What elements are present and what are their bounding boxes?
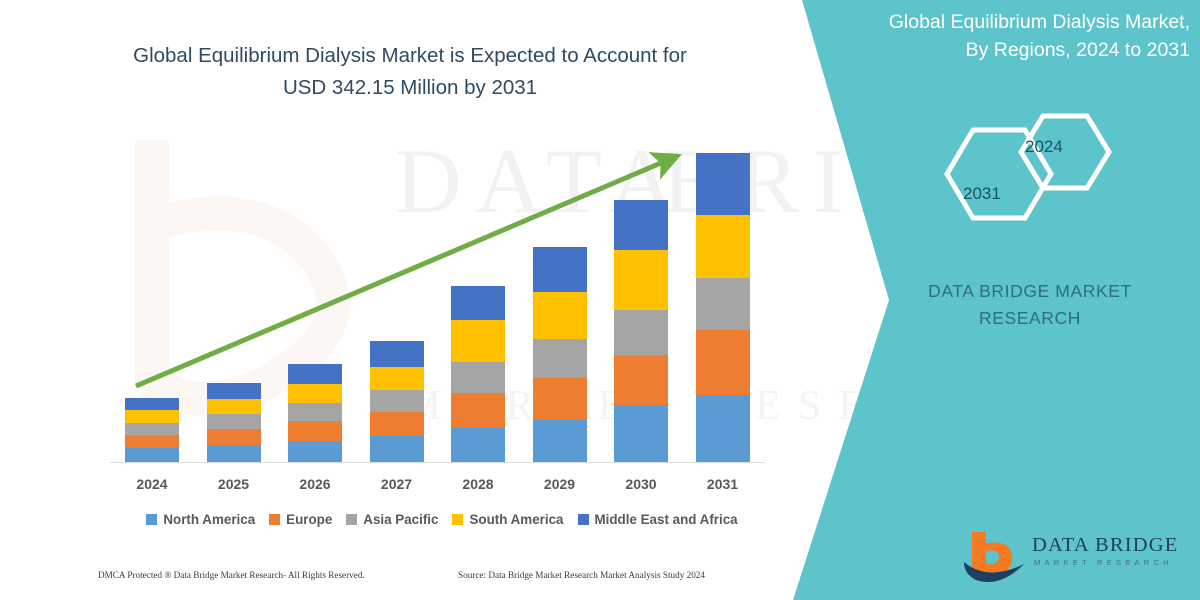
x-axis-label-2026: 2026 bbox=[280, 476, 350, 492]
infographic-canvas: DATA BRIDGE MARKET RESEARCH Global Equil… bbox=[0, 0, 1200, 600]
x-axis-label-2028: 2028 bbox=[443, 476, 513, 492]
legend-label: Middle East and Africa bbox=[595, 512, 738, 527]
bar-segment-north-america[interactable] bbox=[125, 448, 179, 462]
legend-swatch-icon bbox=[578, 514, 589, 525]
bar-segment-middle-east-and-africa[interactable] bbox=[207, 383, 261, 399]
bar-segment-asia-pacific[interactable] bbox=[125, 423, 179, 435]
x-axis-label-2027: 2027 bbox=[362, 476, 432, 492]
legend-swatch-icon bbox=[452, 514, 463, 525]
bar-segment-north-america[interactable] bbox=[207, 445, 261, 462]
bar-segment-europe[interactable] bbox=[451, 393, 505, 428]
x-axis-label-2025: 2025 bbox=[199, 476, 269, 492]
bar-2026[interactable] bbox=[288, 364, 342, 462]
bar-segment-middle-east-and-africa[interactable] bbox=[288, 364, 342, 384]
chart-legend: North AmericaEuropeAsia PacificSouth Ame… bbox=[112, 512, 772, 527]
panel-brand-line2: RESEARCH bbox=[880, 305, 1180, 332]
x-axis-label-2030: 2030 bbox=[606, 476, 676, 492]
bar-segment-north-america[interactable] bbox=[370, 436, 424, 462]
bar-2028[interactable] bbox=[451, 286, 505, 462]
legend-swatch-icon bbox=[346, 514, 357, 525]
bar-2029[interactable] bbox=[533, 247, 587, 462]
legend-swatch-icon bbox=[269, 514, 280, 525]
hexagon-label-2024: 2024 bbox=[1025, 137, 1063, 157]
bar-2025[interactable] bbox=[207, 383, 261, 462]
panel-title-line1: Global Equilibrium Dialysis Market, bbox=[830, 8, 1190, 36]
legend-item-asia-pacific[interactable]: Asia Pacific bbox=[346, 512, 438, 527]
footer-source: Source: Data Bridge Market Research Mark… bbox=[458, 570, 705, 580]
legend-label: North America bbox=[163, 512, 255, 527]
bar-segment-north-america[interactable] bbox=[533, 420, 587, 462]
bar-segment-middle-east-and-africa[interactable] bbox=[614, 200, 668, 250]
bar-2030[interactable] bbox=[614, 200, 668, 462]
logo-mark-icon bbox=[960, 528, 1030, 584]
legend-item-middle-east-and-africa[interactable]: Middle East and Africa bbox=[578, 512, 738, 527]
bar-segment-europe[interactable] bbox=[696, 330, 750, 395]
bar-segment-north-america[interactable] bbox=[451, 428, 505, 462]
legend-item-south-america[interactable]: South America bbox=[452, 512, 563, 527]
bar-segment-asia-pacific[interactable] bbox=[614, 310, 668, 355]
bar-segment-asia-pacific[interactable] bbox=[696, 278, 750, 330]
bar-segment-asia-pacific[interactable] bbox=[207, 414, 261, 429]
bar-segment-south-america[interactable] bbox=[614, 250, 668, 310]
bar-segment-north-america[interactable] bbox=[696, 395, 750, 462]
growth-trend-arrow bbox=[0, 0, 800, 600]
hexagon-label-2031: 2031 bbox=[963, 184, 1001, 204]
bar-segment-asia-pacific[interactable] bbox=[451, 362, 505, 393]
panel-title: Global Equilibrium Dialysis Market, By R… bbox=[830, 8, 1190, 64]
bar-segment-europe[interactable] bbox=[370, 412, 424, 436]
bar-2031[interactable] bbox=[696, 153, 750, 462]
legend-item-north-america[interactable]: North America bbox=[146, 512, 255, 527]
bar-segment-south-america[interactable] bbox=[288, 384, 342, 403]
bar-2024[interactable] bbox=[125, 398, 179, 462]
logo-tagline: MARKET RESEARCH bbox=[1034, 558, 1173, 567]
bar-segment-south-america[interactable] bbox=[125, 410, 179, 423]
bar-segment-north-america[interactable] bbox=[614, 405, 668, 462]
x-axis-label-2029: 2029 bbox=[525, 476, 595, 492]
footer-copyright: DMCA Protected ® Data Bridge Market Rese… bbox=[98, 570, 365, 580]
legend-label: Europe bbox=[286, 512, 332, 527]
bar-segment-south-america[interactable] bbox=[696, 215, 750, 278]
legend-label: South America bbox=[469, 512, 563, 527]
legend-item-europe[interactable]: Europe bbox=[269, 512, 332, 527]
bar-segment-south-america[interactable] bbox=[207, 399, 261, 414]
panel-brand-line1: DATA BRIDGE MARKET bbox=[880, 278, 1180, 305]
logo-name: DATA BRIDGE bbox=[1032, 534, 1179, 557]
bar-segment-south-america[interactable] bbox=[370, 367, 424, 390]
bar-segment-asia-pacific[interactable] bbox=[288, 403, 342, 421]
bar-segment-middle-east-and-africa[interactable] bbox=[451, 286, 505, 320]
bar-segment-asia-pacific[interactable] bbox=[533, 339, 587, 378]
stacked-bar-chart: 20242025202620272028202920302031 bbox=[0, 0, 800, 600]
bar-segment-middle-east-and-africa[interactable] bbox=[370, 341, 424, 367]
bar-segment-europe[interactable] bbox=[614, 355, 668, 405]
bar-segment-europe[interactable] bbox=[288, 421, 342, 441]
x-axis-label-2024: 2024 bbox=[117, 476, 187, 492]
legend-label: Asia Pacific bbox=[363, 512, 438, 527]
bar-segment-middle-east-and-africa[interactable] bbox=[696, 153, 750, 215]
bar-segment-middle-east-and-africa[interactable] bbox=[533, 247, 587, 292]
bar-segment-asia-pacific[interactable] bbox=[370, 390, 424, 412]
bar-segment-south-america[interactable] bbox=[533, 292, 587, 339]
x-axis-label-2031: 2031 bbox=[688, 476, 758, 492]
bar-segment-europe[interactable] bbox=[207, 429, 261, 445]
bar-segment-europe[interactable] bbox=[125, 435, 179, 448]
bar-segment-middle-east-and-africa[interactable] bbox=[125, 398, 179, 410]
bar-segment-north-america[interactable] bbox=[288, 441, 342, 462]
bar-2027[interactable] bbox=[370, 341, 424, 462]
legend-swatch-icon bbox=[146, 514, 157, 525]
panel-title-line2: By Regions, 2024 to 2031 bbox=[830, 36, 1190, 64]
data-bridge-logo: DATA BRIDGE MARKET RESEARCH bbox=[960, 528, 1185, 584]
bar-segment-south-america[interactable] bbox=[451, 320, 505, 362]
bar-segment-europe[interactable] bbox=[533, 378, 587, 420]
hexagon-badges: 2031 2024 bbox=[925, 112, 1125, 237]
panel-brand-text: DATA BRIDGE MARKET RESEARCH bbox=[880, 278, 1180, 332]
